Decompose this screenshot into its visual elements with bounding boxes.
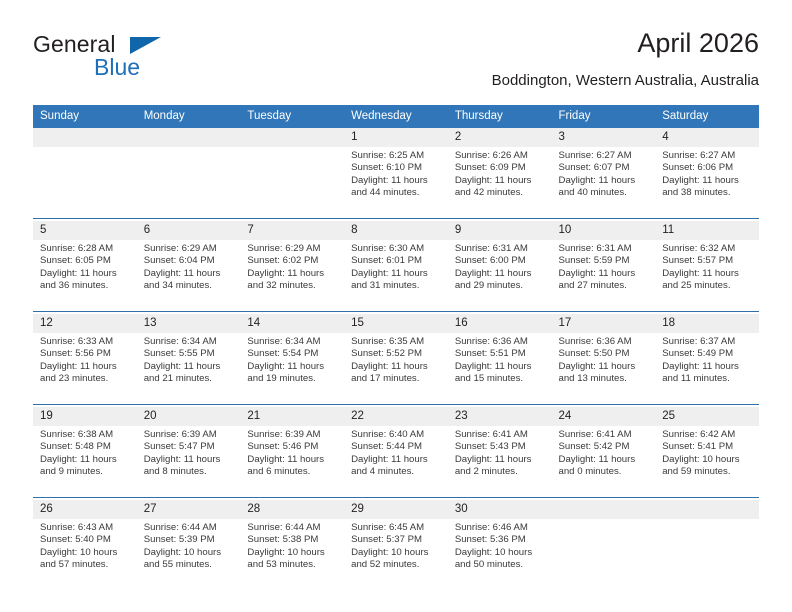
day-cell[interactable]: Sunrise: 6:27 AM Sunset: 6:07 PM Dayligh… xyxy=(552,147,656,219)
sunset-text: Sunset: 5:36 PM xyxy=(455,534,546,546)
daylight-text-line1: Daylight: 10 hours xyxy=(144,547,235,559)
day-number-cell: 28 xyxy=(240,500,344,519)
daylight-text-line2: and 21 minutes. xyxy=(144,373,235,385)
day-number-cell: 25 xyxy=(655,407,759,426)
sunrise-text: Sunrise: 6:44 AM xyxy=(247,522,338,534)
day-cell[interactable]: Sunrise: 6:33 AM Sunset: 5:56 PM Dayligh… xyxy=(33,333,137,405)
sunrise-text: Sunrise: 6:28 AM xyxy=(40,243,131,255)
day-number-cell xyxy=(240,128,344,147)
day-cell[interactable]: Sunrise: 6:37 AM Sunset: 5:49 PM Dayligh… xyxy=(655,333,759,405)
weekday-header-tuesday: Tuesday xyxy=(240,105,344,128)
daylight-text-line2: and 6 minutes. xyxy=(247,466,338,478)
daylight-text-line2: and 53 minutes. xyxy=(247,559,338,571)
weekday-header-sunday: Sunday xyxy=(33,105,137,128)
daylight-text-line1: Daylight: 11 hours xyxy=(455,361,546,373)
sunrise-text: Sunrise: 6:44 AM xyxy=(144,522,235,534)
day-number-cell xyxy=(655,500,759,519)
day-cell[interactable]: Sunrise: 6:44 AM Sunset: 5:39 PM Dayligh… xyxy=(137,519,241,590)
sunset-text: Sunset: 5:37 PM xyxy=(351,534,442,546)
weekday-header-wednesday: Wednesday xyxy=(344,105,448,128)
sunset-text: Sunset: 5:59 PM xyxy=(559,255,650,267)
week-1-detail-row: Sunrise: 6:25 AM Sunset: 6:10 PM Dayligh… xyxy=(33,147,759,219)
daylight-text-line2: and 8 minutes. xyxy=(144,466,235,478)
day-cell[interactable]: Sunrise: 6:36 AM Sunset: 5:50 PM Dayligh… xyxy=(552,333,656,405)
sunrise-text: Sunrise: 6:41 AM xyxy=(455,429,546,441)
sunset-text: Sunset: 5:40 PM xyxy=(40,534,131,546)
sunset-text: Sunset: 5:52 PM xyxy=(351,348,442,360)
week-5-detail-row: Sunrise: 6:43 AM Sunset: 5:40 PM Dayligh… xyxy=(33,519,759,590)
sunrise-text: Sunrise: 6:45 AM xyxy=(351,522,442,534)
sunrise-text: Sunrise: 6:27 AM xyxy=(559,150,650,162)
sunset-text: Sunset: 5:50 PM xyxy=(559,348,650,360)
week-4-detail-row: Sunrise: 6:38 AM Sunset: 5:48 PM Dayligh… xyxy=(33,426,759,498)
daylight-text-line1: Daylight: 11 hours xyxy=(455,175,546,187)
weekday-header-friday: Friday xyxy=(552,105,656,128)
day-number-cell: 4 xyxy=(655,128,759,147)
sunset-text: Sunset: 6:02 PM xyxy=(247,255,338,267)
daylight-text-line1: Daylight: 11 hours xyxy=(455,454,546,466)
day-cell[interactable]: Sunrise: 6:45 AM Sunset: 5:37 PM Dayligh… xyxy=(344,519,448,590)
day-number-cell: 10 xyxy=(552,221,656,240)
day-cell[interactable]: Sunrise: 6:31 AM Sunset: 5:59 PM Dayligh… xyxy=(552,240,656,312)
daylight-text-line1: Daylight: 10 hours xyxy=(247,547,338,559)
daylight-text-line2: and 57 minutes. xyxy=(40,559,131,571)
daylight-text-line1: Daylight: 11 hours xyxy=(247,361,338,373)
sunset-text: Sunset: 5:38 PM xyxy=(247,534,338,546)
sunset-text: Sunset: 5:42 PM xyxy=(559,441,650,453)
day-cell[interactable]: Sunrise: 6:41 AM Sunset: 5:42 PM Dayligh… xyxy=(552,426,656,498)
sunrise-text: Sunrise: 6:34 AM xyxy=(144,336,235,348)
day-cell[interactable]: Sunrise: 6:26 AM Sunset: 6:09 PM Dayligh… xyxy=(448,147,552,219)
weekday-header-thursday: Thursday xyxy=(448,105,552,128)
day-number-cell: 9 xyxy=(448,221,552,240)
sunrise-text: Sunrise: 6:39 AM xyxy=(247,429,338,441)
daylight-text-line1: Daylight: 10 hours xyxy=(455,547,546,559)
sunset-text: Sunset: 5:56 PM xyxy=(40,348,131,360)
week-1-daynum-row: 1 2 3 4 xyxy=(33,128,759,147)
day-cell[interactable]: Sunrise: 6:39 AM Sunset: 5:47 PM Dayligh… xyxy=(137,426,241,498)
week-2-daynum-row: 5 6 7 8 9 10 11 xyxy=(33,221,759,240)
day-number-cell: 7 xyxy=(240,221,344,240)
daylight-text-line2: and 23 minutes. xyxy=(40,373,131,385)
sunset-text: Sunset: 5:54 PM xyxy=(247,348,338,360)
day-cell[interactable] xyxy=(240,147,344,219)
day-cell[interactable]: Sunrise: 6:38 AM Sunset: 5:48 PM Dayligh… xyxy=(33,426,137,498)
daylight-text-line1: Daylight: 11 hours xyxy=(247,454,338,466)
day-cell[interactable]: Sunrise: 6:34 AM Sunset: 5:54 PM Dayligh… xyxy=(240,333,344,405)
day-cell[interactable]: Sunrise: 6:46 AM Sunset: 5:36 PM Dayligh… xyxy=(448,519,552,590)
sunrise-text: Sunrise: 6:37 AM xyxy=(662,336,753,348)
sunset-text: Sunset: 5:47 PM xyxy=(144,441,235,453)
daylight-text-line1: Daylight: 11 hours xyxy=(559,268,650,280)
sunrise-text: Sunrise: 6:40 AM xyxy=(351,429,442,441)
daylight-text-line1: Daylight: 10 hours xyxy=(40,547,131,559)
location-subtitle: Boddington, Western Australia, Australia xyxy=(492,72,759,89)
daylight-text-line1: Daylight: 11 hours xyxy=(247,268,338,280)
daylight-text-line1: Daylight: 11 hours xyxy=(662,175,753,187)
day-number-cell: 30 xyxy=(448,500,552,519)
daylight-text-line2: and 27 minutes. xyxy=(559,280,650,292)
daylight-text-line2: and 52 minutes. xyxy=(351,559,442,571)
daylight-text-line1: Daylight: 11 hours xyxy=(662,268,753,280)
day-cell[interactable]: Sunrise: 6:29 AM Sunset: 6:04 PM Dayligh… xyxy=(137,240,241,312)
sunset-text: Sunset: 5:55 PM xyxy=(144,348,235,360)
daylight-text-line2: and 0 minutes. xyxy=(559,466,650,478)
day-cell[interactable]: Sunrise: 6:27 AM Sunset: 6:06 PM Dayligh… xyxy=(655,147,759,219)
day-cell[interactable]: Sunrise: 6:39 AM Sunset: 5:46 PM Dayligh… xyxy=(240,426,344,498)
day-cell[interactable]: Sunrise: 6:29 AM Sunset: 6:02 PM Dayligh… xyxy=(240,240,344,312)
day-number-cell xyxy=(33,128,137,147)
daylight-text-line2: and 13 minutes. xyxy=(559,373,650,385)
sunset-text: Sunset: 5:44 PM xyxy=(351,441,442,453)
daylight-text-line1: Daylight: 11 hours xyxy=(351,361,442,373)
weekday-header-monday: Monday xyxy=(137,105,241,128)
day-number-cell: 15 xyxy=(344,314,448,333)
sunrise-text: Sunrise: 6:38 AM xyxy=(40,429,131,441)
sunset-text: Sunset: 6:01 PM xyxy=(351,255,442,267)
sunset-text: Sunset: 6:10 PM xyxy=(351,162,442,174)
daylight-text-line1: Daylight: 11 hours xyxy=(144,268,235,280)
sunrise-text: Sunrise: 6:34 AM xyxy=(247,336,338,348)
sunrise-text: Sunrise: 6:43 AM xyxy=(40,522,131,534)
sunset-text: Sunset: 6:09 PM xyxy=(455,162,546,174)
daylight-text-line2: and 32 minutes. xyxy=(247,280,338,292)
daylight-text-line2: and 40 minutes. xyxy=(559,187,650,199)
day-cell[interactable]: Sunrise: 6:28 AM Sunset: 6:05 PM Dayligh… xyxy=(33,240,137,312)
calendar-body: 1 2 3 4 xyxy=(33,128,759,590)
sunrise-text: Sunrise: 6:41 AM xyxy=(559,429,650,441)
sunset-text: Sunset: 5:41 PM xyxy=(662,441,753,453)
daylight-text-line2: and 19 minutes. xyxy=(247,373,338,385)
day-cell[interactable]: Sunrise: 6:30 AM Sunset: 6:01 PM Dayligh… xyxy=(344,240,448,312)
daylight-text-line2: and 44 minutes. xyxy=(351,187,442,199)
day-number-cell: 16 xyxy=(448,314,552,333)
day-number-cell: 23 xyxy=(448,407,552,426)
day-number-cell: 12 xyxy=(33,314,137,333)
sunrise-text: Sunrise: 6:36 AM xyxy=(455,336,546,348)
sunrise-text: Sunrise: 6:46 AM xyxy=(455,522,546,534)
sunset-text: Sunset: 5:57 PM xyxy=(662,255,753,267)
daylight-text-line2: and 31 minutes. xyxy=(351,280,442,292)
day-number-cell: 20 xyxy=(137,407,241,426)
day-cell[interactable]: Sunrise: 6:25 AM Sunset: 6:10 PM Dayligh… xyxy=(344,147,448,219)
sunrise-text: Sunrise: 6:25 AM xyxy=(351,150,442,162)
triangle-flag-icon xyxy=(130,37,161,54)
daylight-text-line2: and 50 minutes. xyxy=(455,559,546,571)
daylight-text-line1: Daylight: 11 hours xyxy=(351,175,442,187)
day-cell[interactable] xyxy=(552,519,656,590)
daylight-text-line1: Daylight: 11 hours xyxy=(559,175,650,187)
day-number-cell: 13 xyxy=(137,314,241,333)
sunset-text: Sunset: 6:04 PM xyxy=(144,255,235,267)
day-cell[interactable]: Sunrise: 6:36 AM Sunset: 5:51 PM Dayligh… xyxy=(448,333,552,405)
week-5-daynum-row: 26 27 28 29 30 xyxy=(33,500,759,519)
day-cell[interactable]: Sunrise: 6:43 AM Sunset: 5:40 PM Dayligh… xyxy=(33,519,137,590)
sunrise-text: Sunrise: 6:29 AM xyxy=(144,243,235,255)
daylight-text-line1: Daylight: 11 hours xyxy=(144,454,235,466)
day-number-cell: 11 xyxy=(655,221,759,240)
week-4-daynum-row: 19 20 21 22 23 24 25 xyxy=(33,407,759,426)
day-number-cell: 22 xyxy=(344,407,448,426)
daylight-text-line2: and 29 minutes. xyxy=(455,280,546,292)
day-number-cell xyxy=(552,500,656,519)
day-cell[interactable]: Sunrise: 6:42 AM Sunset: 5:41 PM Dayligh… xyxy=(655,426,759,498)
day-cell[interactable] xyxy=(137,147,241,219)
sunrise-text: Sunrise: 6:27 AM xyxy=(662,150,753,162)
day-number-cell: 6 xyxy=(137,221,241,240)
daylight-text-line2: and 36 minutes. xyxy=(40,280,131,292)
daylight-text-line2: and 55 minutes. xyxy=(144,559,235,571)
page-title: April 2026 xyxy=(637,28,759,59)
weekday-header-saturday: Saturday xyxy=(655,105,759,128)
day-number-cell: 29 xyxy=(344,500,448,519)
daylight-text-line2: and 59 minutes. xyxy=(662,466,753,478)
day-number-cell: 21 xyxy=(240,407,344,426)
day-number-cell: 27 xyxy=(137,500,241,519)
day-cell[interactable]: Sunrise: 6:41 AM Sunset: 5:43 PM Dayligh… xyxy=(448,426,552,498)
sunset-text: Sunset: 5:48 PM xyxy=(40,441,131,453)
sunset-text: Sunset: 5:39 PM xyxy=(144,534,235,546)
brand-logo[interactable]: General Blue xyxy=(33,31,253,87)
daylight-text-line2: and 38 minutes. xyxy=(662,187,753,199)
sunrise-text: Sunrise: 6:36 AM xyxy=(559,336,650,348)
day-cell[interactable] xyxy=(655,519,759,590)
day-number-cell: 2 xyxy=(448,128,552,147)
daylight-text-line1: Daylight: 11 hours xyxy=(144,361,235,373)
daylight-text-line1: Daylight: 11 hours xyxy=(351,268,442,280)
day-number-cell: 1 xyxy=(344,128,448,147)
day-number-cell xyxy=(137,128,241,147)
day-cell[interactable] xyxy=(33,147,137,219)
sunrise-text: Sunrise: 6:39 AM xyxy=(144,429,235,441)
sunrise-text: Sunrise: 6:33 AM xyxy=(40,336,131,348)
sunset-text: Sunset: 5:51 PM xyxy=(455,348,546,360)
sunset-text: Sunset: 6:06 PM xyxy=(662,162,753,174)
sunset-text: Sunset: 5:49 PM xyxy=(662,348,753,360)
sunrise-text: Sunrise: 6:30 AM xyxy=(351,243,442,255)
daylight-text-line2: and 11 minutes. xyxy=(662,373,753,385)
day-cell[interactable]: Sunrise: 6:40 AM Sunset: 5:44 PM Dayligh… xyxy=(344,426,448,498)
sunrise-sunset-calendar: Sunday Monday Tuesday Wednesday Thursday… xyxy=(33,105,759,590)
day-number-cell: 3 xyxy=(552,128,656,147)
day-number-cell: 17 xyxy=(552,314,656,333)
day-number-cell: 14 xyxy=(240,314,344,333)
daylight-text-line1: Daylight: 11 hours xyxy=(455,268,546,280)
calendar-page: General Blue April 2026 Boddington, West… xyxy=(0,0,792,612)
sunrise-text: Sunrise: 6:31 AM xyxy=(559,243,650,255)
page-header: General Blue April 2026 Boddington, West… xyxy=(33,28,759,100)
sunset-text: Sunset: 6:05 PM xyxy=(40,255,131,267)
daylight-text-line1: Daylight: 11 hours xyxy=(351,454,442,466)
daylight-text-line2: and 15 minutes. xyxy=(455,373,546,385)
daylight-text-line2: and 9 minutes. xyxy=(40,466,131,478)
sunset-text: Sunset: 5:43 PM xyxy=(455,441,546,453)
day-cell[interactable]: Sunrise: 6:32 AM Sunset: 5:57 PM Dayligh… xyxy=(655,240,759,312)
week-3-detail-row: Sunrise: 6:33 AM Sunset: 5:56 PM Dayligh… xyxy=(33,333,759,405)
daylight-text-line1: Daylight: 11 hours xyxy=(559,361,650,373)
day-number-cell: 5 xyxy=(33,221,137,240)
daylight-text-line2: and 2 minutes. xyxy=(455,466,546,478)
day-number-cell: 26 xyxy=(33,500,137,519)
daylight-text-line2: and 4 minutes. xyxy=(351,466,442,478)
daylight-text-line1: Daylight: 11 hours xyxy=(559,454,650,466)
sunrise-text: Sunrise: 6:42 AM xyxy=(662,429,753,441)
week-3-daynum-row: 12 13 14 15 16 17 18 xyxy=(33,314,759,333)
day-cell[interactable]: Sunrise: 6:44 AM Sunset: 5:38 PM Dayligh… xyxy=(240,519,344,590)
sunrise-text: Sunrise: 6:31 AM xyxy=(455,243,546,255)
daylight-text-line2: and 25 minutes. xyxy=(662,280,753,292)
daylight-text-line1: Daylight: 10 hours xyxy=(662,454,753,466)
daylight-text-line2: and 17 minutes. xyxy=(351,373,442,385)
day-cell[interactable]: Sunrise: 6:34 AM Sunset: 5:55 PM Dayligh… xyxy=(137,333,241,405)
sunrise-text: Sunrise: 6:29 AM xyxy=(247,243,338,255)
brand-name-blue: Blue xyxy=(94,54,140,81)
weekday-header-row: Sunday Monday Tuesday Wednesday Thursday… xyxy=(33,105,759,128)
sunrise-text: Sunrise: 6:32 AM xyxy=(662,243,753,255)
daylight-text-line1: Daylight: 11 hours xyxy=(662,361,753,373)
sunrise-text: Sunrise: 6:26 AM xyxy=(455,150,546,162)
daylight-text-line1: Daylight: 10 hours xyxy=(351,547,442,559)
daylight-text-line1: Daylight: 11 hours xyxy=(40,361,131,373)
day-cell[interactable]: Sunrise: 6:31 AM Sunset: 6:00 PM Dayligh… xyxy=(448,240,552,312)
day-number-cell: 19 xyxy=(33,407,137,426)
day-cell[interactable]: Sunrise: 6:35 AM Sunset: 5:52 PM Dayligh… xyxy=(344,333,448,405)
daylight-text-line1: Daylight: 11 hours xyxy=(40,268,131,280)
daylight-text-line2: and 42 minutes. xyxy=(455,187,546,199)
day-number-cell: 8 xyxy=(344,221,448,240)
sunset-text: Sunset: 5:46 PM xyxy=(247,441,338,453)
sunset-text: Sunset: 6:07 PM xyxy=(559,162,650,174)
day-number-cell: 24 xyxy=(552,407,656,426)
sunrise-text: Sunrise: 6:35 AM xyxy=(351,336,442,348)
day-number-cell: 18 xyxy=(655,314,759,333)
daylight-text-line2: and 34 minutes. xyxy=(144,280,235,292)
week-2-detail-row: Sunrise: 6:28 AM Sunset: 6:05 PM Dayligh… xyxy=(33,240,759,312)
sunset-text: Sunset: 6:00 PM xyxy=(455,255,546,267)
daylight-text-line1: Daylight: 11 hours xyxy=(40,454,131,466)
